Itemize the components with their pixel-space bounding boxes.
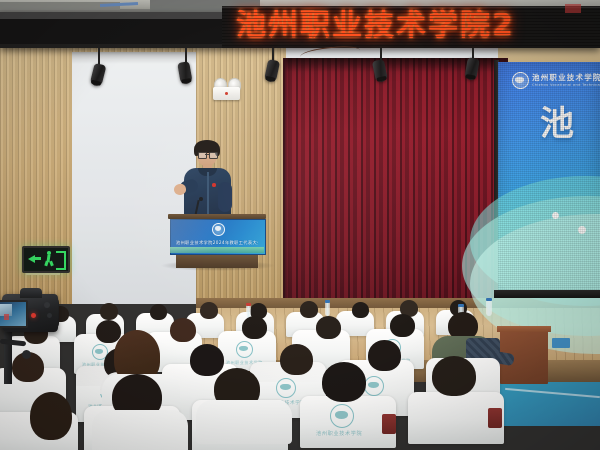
spotlight-lens-icon <box>465 74 476 80</box>
audience-head <box>242 316 267 339</box>
led-scanline-overlay <box>222 6 600 46</box>
chair-cover-logo-inner <box>95 349 103 354</box>
desk-placard <box>552 338 570 348</box>
glasses-icon <box>209 152 218 159</box>
running-man-leg <box>44 261 48 267</box>
glasses-bridge-icon <box>205 154 209 155</box>
chair-frame <box>488 408 502 428</box>
audience-head <box>316 316 341 339</box>
emergency-lamp-fixture <box>213 78 240 100</box>
dslr-video-camera <box>0 288 62 388</box>
auditorium-photo: 池州职业技术学院 Chizhou Vocational and Technica… <box>0 0 600 450</box>
screen-bezel-bottom <box>494 290 600 298</box>
chair-frame <box>382 414 396 434</box>
audience-shoulders <box>92 410 188 450</box>
audience-head <box>322 362 366 402</box>
curtain-left-edge <box>283 58 288 314</box>
audience-head <box>300 301 318 318</box>
podium-base <box>176 253 258 268</box>
jacket-zipper <box>207 172 209 218</box>
podium-sheen <box>170 219 264 253</box>
spotlight-lens-icon <box>265 76 276 82</box>
podium-top-surface <box>168 214 266 219</box>
tripod-adjust-knob <box>22 350 31 359</box>
exit-arrow-tail-icon <box>34 257 41 260</box>
presenter-left-arm <box>218 182 232 212</box>
water-bottle-cap <box>246 303 251 306</box>
camera-control-button <box>47 313 52 318</box>
camera-screen-preview-accent <box>4 314 9 320</box>
recording-indicator-icon <box>31 313 36 318</box>
desk-top <box>497 326 551 332</box>
audience-head <box>368 340 401 371</box>
audience-head <box>390 314 415 337</box>
camera-viewfinder-hump <box>20 288 42 298</box>
audience-shoulders <box>196 400 292 444</box>
audience-head <box>200 302 218 319</box>
exit-door-icon <box>56 251 66 270</box>
water-bottle <box>325 302 330 316</box>
chair-cover-logo-inner <box>368 382 379 388</box>
water-bottle-cap <box>486 298 492 301</box>
audience-head <box>432 356 476 396</box>
chair-cover-logo-inner <box>335 411 348 419</box>
speaker-podium: 池州职业技术学院2024年教职工代表大会 <box>168 214 266 268</box>
screen-pixel-grid <box>498 62 600 292</box>
chair-cover-text: 池州职业技术学院 <box>316 430 378 438</box>
audience-head <box>150 304 167 320</box>
audience-head <box>100 303 118 320</box>
audience-head <box>352 302 369 318</box>
chair-cover-logo-inner <box>239 346 248 351</box>
camera-dial-button <box>44 302 50 308</box>
chair-cover-logo-inner <box>280 384 291 390</box>
microphone-icon <box>199 197 203 201</box>
running-man-leg <box>49 261 54 267</box>
audience-head <box>170 318 196 342</box>
audience-head <box>30 392 72 440</box>
audience-head <box>190 344 224 376</box>
water-bottle <box>486 300 492 316</box>
led-banner-corner-marker <box>565 4 581 13</box>
emergency-lamp-indicator <box>225 92 228 95</box>
water-bottle-cap <box>325 300 330 303</box>
lapel-pin-icon <box>212 183 216 187</box>
audience-head <box>280 344 313 375</box>
audience-head <box>96 320 121 343</box>
presenter-at-podium <box>176 140 238 220</box>
emergency-exit-sign <box>22 246 70 273</box>
running-man-icon <box>43 251 54 266</box>
water-bottle-cap <box>458 304 464 307</box>
